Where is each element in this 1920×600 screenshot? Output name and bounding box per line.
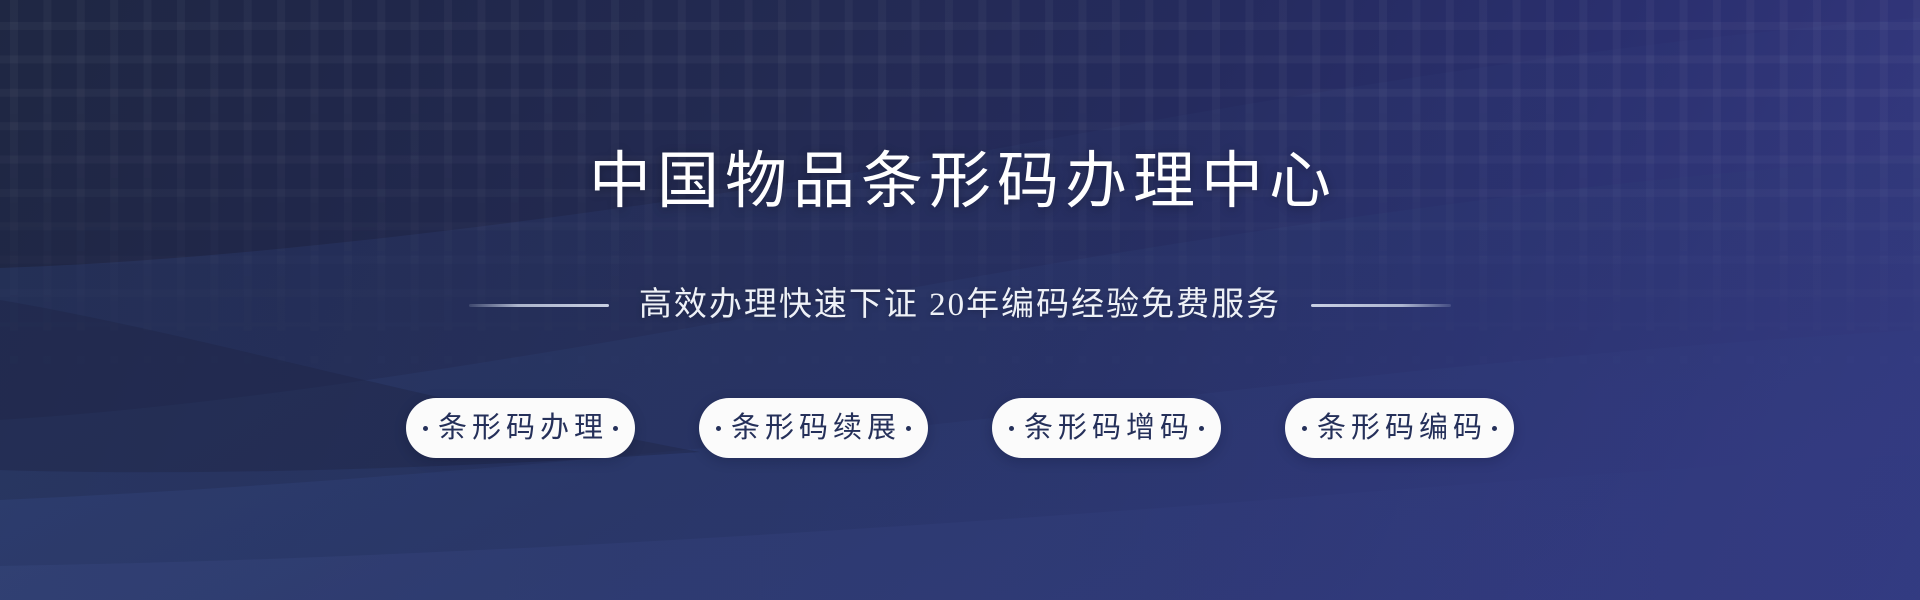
bullet-dot-icon <box>716 426 721 431</box>
banner-subtitle: 高效办理快速下证 20年编码经验免费服务 <box>639 282 1281 328</box>
service-pill-label: 条形码办理 <box>433 411 608 445</box>
subtitle-row: 高效办理快速下证 20年编码经验免费服务 <box>0 282 1920 328</box>
divider-line-left <box>469 304 609 307</box>
bullet-dot-icon <box>613 426 618 431</box>
service-pill-barcode-encode[interactable]: 条形码编码 <box>1285 398 1514 458</box>
bullet-dot-icon <box>1492 426 1497 431</box>
service-pill-barcode-add[interactable]: 条形码增码 <box>992 398 1221 458</box>
bullet-dot-icon <box>1009 426 1014 431</box>
bullet-dot-icon <box>1199 426 1204 431</box>
service-pill-label: 条形码增码 <box>1019 411 1194 445</box>
bullet-dot-icon <box>1302 426 1307 431</box>
service-pill-barcode-renew[interactable]: 条形码续展 <box>699 398 928 458</box>
service-pill-label: 条形码续展 <box>726 411 901 445</box>
service-pill-label: 条形码编码 <box>1312 411 1487 445</box>
page-title: 中国物品条形码办理中心 <box>0 146 1920 218</box>
service-pill-barcode-apply[interactable]: 条形码办理 <box>406 398 635 458</box>
banner-content: 中国物品条形码办理中心 高效办理快速下证 20年编码经验免费服务 条形码办理 条… <box>0 0 1920 600</box>
bullet-dot-icon <box>906 426 911 431</box>
divider-line-right <box>1311 304 1451 307</box>
hero-banner: 中国物品条形码办理中心 高效办理快速下证 20年编码经验免费服务 条形码办理 条… <box>0 0 1920 600</box>
bullet-dot-icon <box>423 426 428 431</box>
service-pill-row: 条形码办理 条形码续展 条形码增码 条形码编码 <box>0 398 1920 458</box>
